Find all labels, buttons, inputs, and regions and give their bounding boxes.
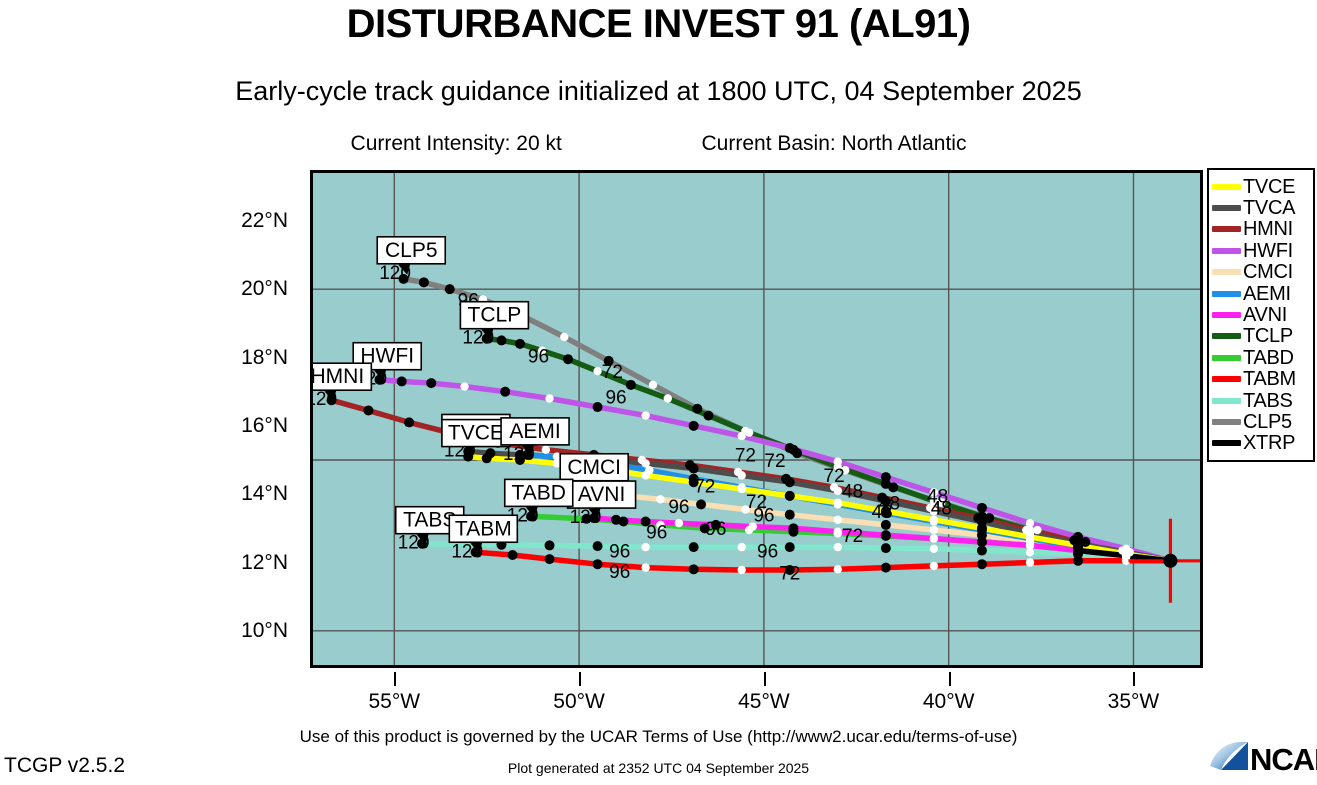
hour-label: 72 <box>746 492 767 513</box>
track-label-text-clp5: CLP5 <box>385 239 438 262</box>
track-labels-group: CLP5120TCLP120HWFI120HMNI120TVCA120TVCEA… <box>313 237 636 562</box>
marker-12h <box>881 472 891 482</box>
subheader-row: Current Intensity: 20 kt Current Basin: … <box>0 132 1317 156</box>
marker-12h <box>426 378 436 388</box>
legend-label-hwfi: HWFI <box>1243 241 1293 261</box>
marker-6h <box>738 485 746 493</box>
marker-12h <box>482 453 492 463</box>
marker-12h <box>445 284 455 294</box>
legend-label-tabm: TABM <box>1243 369 1296 389</box>
legend-item-aemi[interactable]: AEMI <box>1212 283 1311 304</box>
page-title: DISTURBANCE INVEST 91 (AL91) <box>0 2 1317 47</box>
y-tick-label: 14°N <box>241 482 288 506</box>
legend-label-xtrp: XTRP <box>1243 433 1295 453</box>
tcgp-track-plot: DISTURBANCE INVEST 91 (AL91) Early-cycle… <box>0 0 1317 780</box>
x-tick-mark <box>579 672 581 686</box>
legend-label-tabd: TABD <box>1243 348 1294 368</box>
legend-swatch-tclp <box>1212 333 1241 339</box>
marker-12h <box>881 530 891 540</box>
x-tick-mark <box>949 672 951 686</box>
track-label-text-aemi: AEMI <box>509 420 560 443</box>
marker-6h <box>834 516 842 524</box>
marker-12h <box>785 443 795 453</box>
hour-label: 72 <box>764 451 785 472</box>
marker-12h <box>404 417 414 427</box>
marker-12h <box>785 542 795 552</box>
marker-12h <box>703 411 713 421</box>
marker-12h <box>545 554 555 564</box>
legend-item-hmni[interactable]: HMNI <box>1212 219 1311 240</box>
marker-12h <box>689 542 699 552</box>
legend-label-avni: AVNI <box>1243 305 1287 325</box>
marker-6h <box>738 566 746 574</box>
legend-item-tabm[interactable]: TABM <box>1212 369 1311 390</box>
marker-12h <box>977 559 987 569</box>
hour-label: 72 <box>602 362 623 383</box>
marker-6h <box>675 519 683 527</box>
marker-12h <box>545 540 555 550</box>
marker-6h <box>641 563 649 571</box>
y-tick-label: 20°N <box>241 277 288 301</box>
legend-label-tvca: TVCA <box>1243 198 1295 218</box>
legend-label-hmni: HMNI <box>1243 219 1293 239</box>
hour-label: 72 <box>694 476 715 497</box>
legend-label-clp5: CLP5 <box>1243 412 1292 432</box>
marker-12h <box>977 523 987 533</box>
marker-6h <box>649 381 657 389</box>
marker-12h <box>593 559 603 569</box>
x-tick-label: 50°W <box>553 690 605 714</box>
legend-swatch-tvca <box>1212 205 1241 211</box>
legend-item-cmci[interactable]: CMCI <box>1212 262 1311 283</box>
hour-label: 48 <box>872 502 893 523</box>
legend-item-clp5[interactable]: CLP5 <box>1212 411 1311 432</box>
legend-label-cmci: CMCI <box>1243 262 1293 282</box>
x-axis-labels: 55°W50°W45°W40°W35°W <box>310 672 1203 712</box>
hour-label: 96 <box>609 562 630 583</box>
marker-12h <box>689 421 699 431</box>
plot-area[interactable]: 9672969672724896487248489696969696724872… <box>310 170 1203 668</box>
marker-12h <box>881 563 891 573</box>
marker-6h <box>738 432 746 440</box>
legend-label-tabs: TABS <box>1243 391 1293 411</box>
hour-label: 72 <box>779 564 800 585</box>
legend-item-xtrp[interactable]: XTRP <box>1212 433 1311 454</box>
x-tick-mark <box>764 672 766 686</box>
legend-item-tvca[interactable]: TVCA <box>1212 197 1311 218</box>
hour-label: 96 <box>646 523 667 544</box>
version-text: TCGP v2.5.2 <box>4 754 125 778</box>
marker-6h <box>1026 519 1034 527</box>
y-tick-label: 22°N <box>241 209 288 233</box>
x-tick-mark <box>1133 672 1135 686</box>
track-label-text-tclp: TCLP <box>468 304 522 327</box>
marker-12h <box>593 402 603 412</box>
x-tick-label: 55°W <box>369 690 421 714</box>
marker-6h <box>834 487 842 495</box>
marker-6h <box>745 428 753 436</box>
legend-item-tvce[interactable]: TVCE <box>1212 176 1311 197</box>
marker-6h <box>560 333 568 341</box>
marker-6h <box>1033 526 1041 534</box>
marker-6h <box>641 471 649 479</box>
hour-label: 72 <box>735 446 756 467</box>
marker-12h <box>977 546 987 556</box>
marker-6h <box>545 394 553 402</box>
marker-12h <box>500 387 510 397</box>
ncar-wordmark: NCAR <box>1250 742 1317 778</box>
marker-12h <box>1073 546 1083 556</box>
legend-item-tclp[interactable]: TCLP <box>1212 326 1311 347</box>
marker-12h <box>563 354 573 364</box>
legend-swatch-clp5 <box>1212 419 1241 425</box>
hour-label: 96 <box>757 541 778 562</box>
x-tick-label: 35°W <box>1108 690 1160 714</box>
track-label-text-tabs: TABS <box>403 509 456 532</box>
legend-label-aemi: AEMI <box>1243 284 1291 304</box>
marker-12h <box>593 541 603 551</box>
ncar-logo: NCAR <box>1208 736 1316 780</box>
marker-6h <box>1026 533 1034 541</box>
track-canvas: 9672969672724896487248489696969696724872… <box>313 173 1200 665</box>
hour-label: 96 <box>705 519 726 540</box>
legend-item-avni[interactable]: AVNI <box>1212 304 1311 325</box>
legend-swatch-tabd <box>1212 355 1241 361</box>
current-position-dot <box>1163 554 1177 568</box>
legend-item-tabs[interactable]: TABS <box>1212 390 1311 411</box>
terms-of-use-text: Use of this product is governed by the U… <box>0 727 1317 747</box>
x-tick-mark <box>394 672 396 686</box>
marker-6h <box>930 534 938 542</box>
marker-12h <box>881 543 891 553</box>
marker-12h <box>1073 556 1083 566</box>
track-label-text-cmci: CMCI <box>567 456 621 479</box>
marker-12h <box>515 339 525 349</box>
marker-6h <box>834 499 842 507</box>
legend-swatch-avni <box>1212 312 1241 318</box>
hour-label: 96 <box>609 541 630 562</box>
legend-swatch-hmni <box>1212 226 1241 232</box>
marker-6h <box>542 446 550 454</box>
marker-12h <box>508 550 518 560</box>
marker-6h <box>1026 541 1034 549</box>
marker-6h <box>834 458 842 466</box>
marker-6h <box>656 495 664 503</box>
marker-12h <box>611 515 621 525</box>
y-axis-labels: 10°N12°N14°N16°N18°N20°N22°N <box>180 170 288 668</box>
track-label-text-avni: AVNI <box>578 483 625 506</box>
marker-12h <box>696 499 706 509</box>
marker-12h <box>785 491 795 501</box>
x-tick-label: 40°W <box>923 690 975 714</box>
marker-12h <box>977 503 987 513</box>
marker-12h <box>977 537 987 547</box>
hour-label: 48 <box>927 487 948 508</box>
marker-6h <box>460 382 468 390</box>
marker-6h <box>834 565 842 573</box>
legend-swatch-tabs <box>1212 398 1241 404</box>
legend-item-hwfi[interactable]: HWFI <box>1212 240 1311 261</box>
legend-swatch-tvce <box>1212 184 1241 190</box>
page-subtitle: Early-cycle track guidance initialized a… <box>0 76 1317 107</box>
hour-label: 96 <box>605 388 626 409</box>
marker-12h <box>689 564 699 574</box>
track-label-text-tabd: TABD <box>512 481 566 504</box>
marker-12h <box>419 277 429 287</box>
hour-label: 96 <box>528 347 549 368</box>
marker-6h <box>738 543 746 551</box>
x-tick-label: 45°W <box>738 690 790 714</box>
marker-12h <box>785 510 795 520</box>
marker-6h <box>834 528 842 536</box>
marker-6h <box>641 411 649 419</box>
y-tick-label: 16°N <box>241 414 288 438</box>
hour-label: 48 <box>842 482 863 503</box>
marker-12h <box>785 477 795 487</box>
marker-12h <box>363 405 373 415</box>
legend-swatch-cmci <box>1212 269 1241 275</box>
track-label-text-hmni: HMNI <box>313 365 364 388</box>
marker-12h <box>788 523 798 533</box>
legend-swatch-tabm <box>1212 376 1241 382</box>
marker-6h <box>1026 558 1034 566</box>
current-intensity-text: Current Intensity: 20 kt <box>351 132 562 155</box>
legend-swatch-hwfi <box>1212 248 1241 254</box>
legend-item-tabd[interactable]: TABD <box>1212 347 1311 368</box>
track-label-text-tabm: TABM <box>455 517 512 540</box>
legend-swatch-xtrp <box>1212 440 1241 446</box>
hour-label: 96 <box>668 497 689 518</box>
marker-6h <box>593 367 601 375</box>
legend-label-tclp: TCLP <box>1243 326 1293 346</box>
y-tick-label: 18°N <box>241 346 288 370</box>
marker-12h <box>626 380 636 390</box>
marker-6h <box>930 526 938 534</box>
current-basin-text: Current Basin: North Atlantic <box>702 132 967 155</box>
marker-12h <box>496 335 506 345</box>
marker-12h <box>689 464 699 474</box>
marker-6h <box>834 543 842 551</box>
plot-generated-text: Plot generated at 2352 UTC 04 September … <box>0 760 1317 776</box>
marker-6h <box>930 562 938 570</box>
y-tick-label: 12°N <box>241 551 288 575</box>
marker-6h <box>930 545 938 553</box>
track-label-text-tvce: TVCE <box>448 422 504 445</box>
legend-label-tvce: TVCE <box>1243 177 1295 197</box>
marker-12h <box>397 376 407 386</box>
legend-panel: TVCETVCAHMNIHWFICMCIAEMIAVNITCLPTABDTABM… <box>1207 168 1315 462</box>
marker-6h <box>738 471 746 479</box>
marker-12h <box>692 404 702 414</box>
marker-6h <box>664 394 672 402</box>
current-position-marker <box>1128 519 1200 603</box>
y-tick-label: 10°N <box>241 619 288 643</box>
legend-swatch-aemi <box>1212 291 1241 297</box>
hour-label: 72 <box>842 526 863 547</box>
marker-6h <box>641 543 649 551</box>
